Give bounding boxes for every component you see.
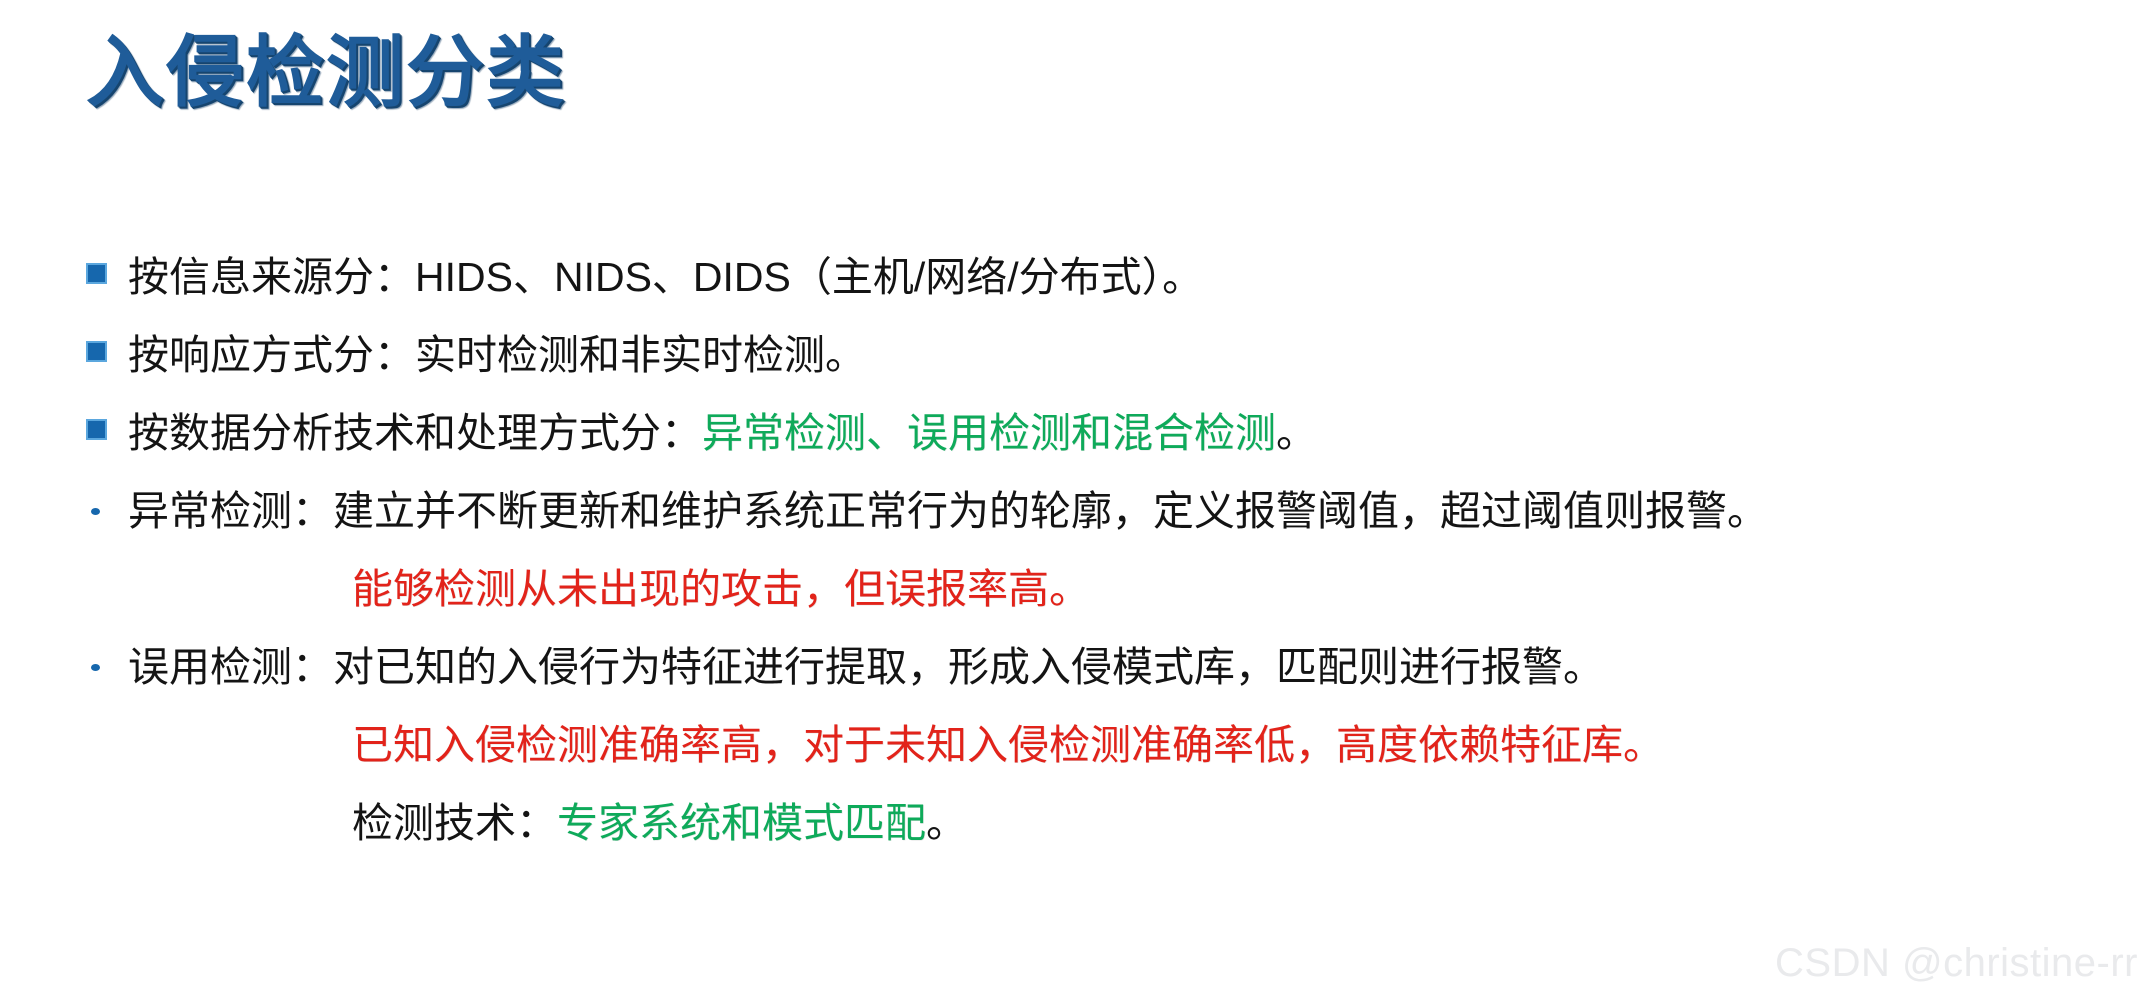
text-segment-black: 按信息来源分：HIDS、NIDS、DIDS（主机/网络/分布式）。: [128, 254, 1203, 300]
list-item: 能够检测从未出现的攻击，但误报率高。: [0, 550, 2148, 628]
list-item-text: 检测技术：专家系统和模式匹配。: [352, 784, 967, 862]
list-item: 检测技术：专家系统和模式匹配。: [0, 784, 2148, 862]
text-segment-black: 。: [1276, 410, 1317, 456]
text-segment-black: 按数据分析技术和处理方式分：: [128, 410, 702, 456]
list-item-text: 误用检测：对已知的入侵行为特征进行提取，形成入侵模式库，匹配则进行报警。: [128, 628, 1604, 706]
dot-bullet-icon: [91, 664, 100, 671]
text-segment-black: 误用检测：对已知的入侵行为特征进行提取，形成入侵模式库，匹配则进行报警。: [128, 644, 1604, 690]
list-item: 按响应方式分：实时检测和非实时检测。: [0, 316, 2148, 394]
bullet-list: 按信息来源分：HIDS、NIDS、DIDS（主机/网络/分布式）。按响应方式分：…: [0, 238, 2148, 862]
text-segment-red: 已知入侵检测准确率高，对于未知入侵检测准确率低，高度依赖特征库。: [352, 722, 1664, 768]
list-item: 按数据分析技术和处理方式分：异常检测、误用检测和混合检测。: [0, 394, 2148, 472]
page-title: 入侵检测分类: [86, 32, 566, 114]
list-item: 按信息来源分：HIDS、NIDS、DIDS（主机/网络/分布式）。: [0, 238, 2148, 316]
text-segment-black: 。: [926, 800, 967, 846]
slide-canvas: 入侵检测分类 按信息来源分：HIDS、NIDS、DIDS（主机/网络/分布式）。…: [0, 0, 2148, 994]
square-bullet-icon: [88, 343, 105, 360]
text-segment-green: 专家系统和模式匹配: [557, 800, 926, 846]
watermark-csdn: CSDN @christine-rr: [1775, 941, 2138, 986]
text-segment-black: 按响应方式分：实时检测和非实时检测。: [128, 332, 866, 378]
list-item: 已知入侵检测准确率高，对于未知入侵检测准确率低，高度依赖特征库。: [0, 706, 2148, 784]
list-item-text: 按响应方式分：实时检测和非实时检测。: [128, 316, 866, 394]
text-segment-green: 异常检测、误用检测和混合检测: [702, 410, 1276, 456]
list-item-text: 异常检测：建立并不断更新和维护系统正常行为的轮廓，定义报警阈值，超过阈值则报警。: [128, 472, 1768, 550]
list-item-text: 能够检测从未出现的攻击，但误报率高。: [352, 550, 1090, 628]
square-bullet-icon: [88, 421, 105, 438]
list-item-text: 按数据分析技术和处理方式分：异常检测、误用检测和混合检测。: [128, 394, 1317, 472]
text-segment-red: 能够检测从未出现的攻击，但误报率高。: [352, 566, 1090, 612]
text-segment-black: 异常检测：建立并不断更新和维护系统正常行为的轮廓，定义报警阈值，超过阈值则报警。: [128, 488, 1768, 534]
text-segment-black: 检测技术：: [352, 800, 557, 846]
list-item-text: 已知入侵检测准确率高，对于未知入侵检测准确率低，高度依赖特征库。: [352, 706, 1664, 784]
square-bullet-icon: [88, 265, 105, 282]
list-item: 误用检测：对已知的入侵行为特征进行提取，形成入侵模式库，匹配则进行报警。: [0, 628, 2148, 706]
dot-bullet-icon: [91, 508, 100, 515]
list-item: 异常检测：建立并不断更新和维护系统正常行为的轮廓，定义报警阈值，超过阈值则报警。: [0, 472, 2148, 550]
list-item-text: 按信息来源分：HIDS、NIDS、DIDS（主机/网络/分布式）。: [128, 238, 1203, 316]
